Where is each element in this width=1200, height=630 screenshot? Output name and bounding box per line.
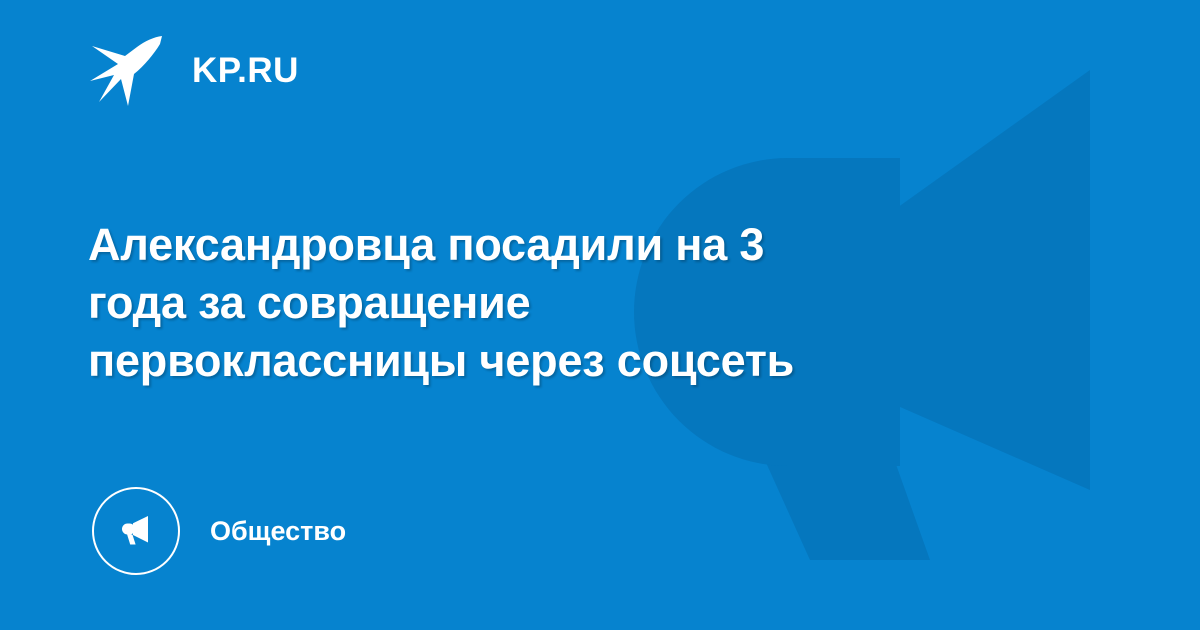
rubric[interactable]: Общество <box>92 487 346 575</box>
headline-line-1: Александровца посадили на 3 <box>88 216 1028 274</box>
rubric-label: Общество <box>210 518 346 545</box>
swallow-bird-icon <box>88 32 170 108</box>
headline-line-2: года за совращение <box>88 274 1028 332</box>
headline: Александровца посадили на 3 года за совр… <box>88 216 1028 390</box>
rubric-badge <box>92 487 180 575</box>
social-share-card: KP.RU Александровца посадили на 3 года з… <box>0 0 1200 630</box>
site-logo[interactable]: KP.RU <box>88 32 299 108</box>
headline-line-3: первоклассницы через соцсеть <box>88 332 1028 390</box>
megaphone-icon <box>113 508 159 554</box>
site-logo-text: KP.RU <box>192 53 299 88</box>
